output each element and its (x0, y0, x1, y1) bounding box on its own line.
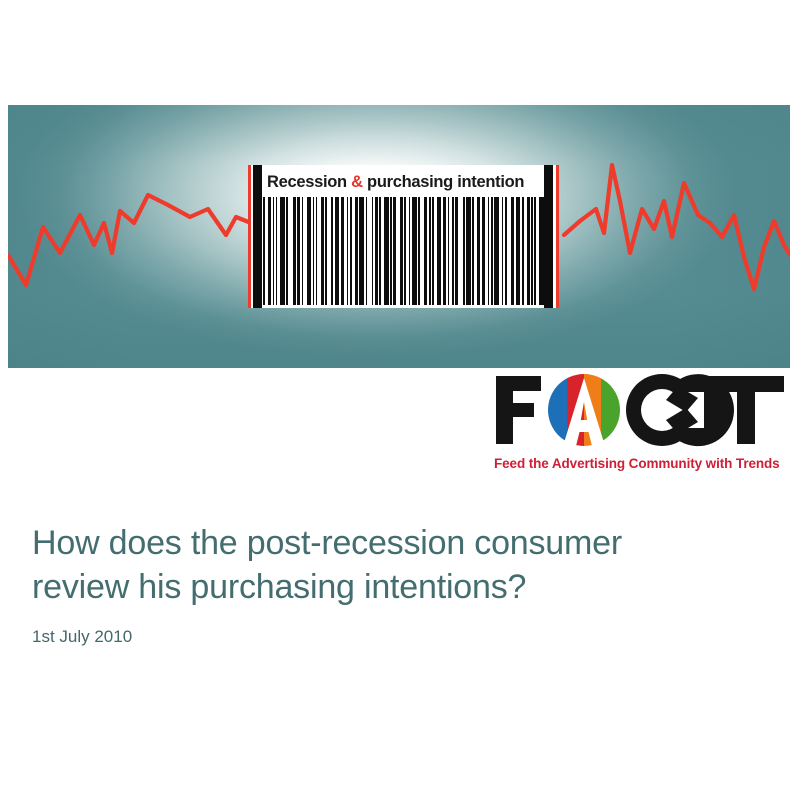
barcode-bar (443, 197, 446, 305)
barcode-bar (316, 197, 318, 305)
barcode-bar (409, 197, 411, 305)
barcode-bar (472, 197, 474, 305)
barcode-bar (429, 197, 431, 305)
barcode-bar (466, 197, 471, 305)
barcode-bar (280, 197, 285, 305)
barcode-bar (307, 197, 312, 305)
barcode-bar (463, 197, 465, 305)
recession-banner-image: Recession & purchasing intention (8, 105, 790, 368)
barcode-bar (350, 197, 352, 305)
barcode-title-suffix: purchasing intention (363, 173, 524, 191)
logo-letter-a-emblem (548, 374, 621, 446)
barcode-bar (400, 197, 403, 305)
page-title: How does the post-recession consumer rev… (32, 521, 762, 609)
barcode-bar (531, 197, 533, 305)
barcode-bar (539, 197, 544, 305)
barcode-bar (297, 197, 300, 305)
barcode-guide-right-red (556, 165, 559, 308)
barcode-bar (335, 197, 340, 305)
barcode-bar (372, 197, 374, 305)
barcode-bar (545, 197, 547, 305)
barcode-title-prefix: Recession (267, 173, 351, 191)
barcode-bar (375, 197, 378, 305)
page-title-line-2: review his purchasing intentions? (32, 565, 762, 609)
barcode-bar (313, 197, 315, 305)
cover-date: 1st July 2010 (32, 627, 132, 647)
barcode-bar (502, 197, 504, 305)
barcode-bar (276, 197, 278, 305)
barcode-bar (477, 197, 480, 305)
barcode-title-text: Recession & purchasing intention (267, 169, 543, 195)
logo-letter-f (496, 376, 541, 444)
barcode-bar (527, 197, 530, 305)
barcode-title-ampersand: & (351, 173, 363, 191)
barcode-bar (366, 197, 368, 305)
barcode-graphic: Recession & purchasing intention (245, 165, 565, 308)
barcode-bar (293, 197, 296, 305)
barcode-bar (268, 197, 271, 305)
barcode-bar (359, 197, 364, 305)
barcode-bar (516, 197, 521, 305)
page-title-line-1: How does the post-recession consumer (32, 521, 762, 565)
barcode-bar (412, 197, 417, 305)
barcode-bar (286, 197, 288, 305)
barcode-bar (534, 197, 536, 305)
barcode-bar (347, 197, 349, 305)
barcode-bar (379, 197, 381, 305)
fact-logo: Feed the Advertising Community with Tren… (492, 370, 792, 478)
barcode-bar (548, 197, 551, 305)
barcode-bar (331, 197, 333, 305)
barcode-bar (273, 197, 275, 305)
barcode-bar (418, 197, 420, 305)
barcode-bar (511, 197, 514, 305)
barcode-bar (437, 197, 442, 305)
barcode-bar (263, 197, 265, 305)
barcode-bar (491, 197, 493, 305)
fact-tagline: Feed the Advertising Community with Tren… (494, 456, 792, 471)
barcode-bar (404, 197, 406, 305)
barcode-bar (482, 197, 485, 305)
barcode-bar (424, 197, 427, 305)
barcode-bars (257, 197, 553, 305)
barcode-bar (494, 197, 499, 305)
barcode-guide-left-red (248, 165, 251, 308)
barcode-bar (448, 197, 450, 305)
barcode-bar (505, 197, 507, 305)
barcode-bar (302, 197, 304, 305)
barcode-bar (432, 197, 434, 305)
barcode-bar (341, 197, 344, 305)
barcode-bar (355, 197, 358, 305)
fact-wordmark (492, 370, 792, 450)
barcode-bar (325, 197, 327, 305)
trendline-right-path (564, 165, 790, 289)
barcode-bar (488, 197, 490, 305)
barcode-bar (522, 197, 524, 305)
barcode-bar (321, 197, 324, 305)
barcode-bar (455, 197, 458, 305)
barcode-bar (393, 197, 396, 305)
barcode-bar (452, 197, 454, 305)
barcode-bar (390, 197, 392, 305)
barcode-bar (384, 197, 389, 305)
barcode-bar (257, 197, 262, 305)
